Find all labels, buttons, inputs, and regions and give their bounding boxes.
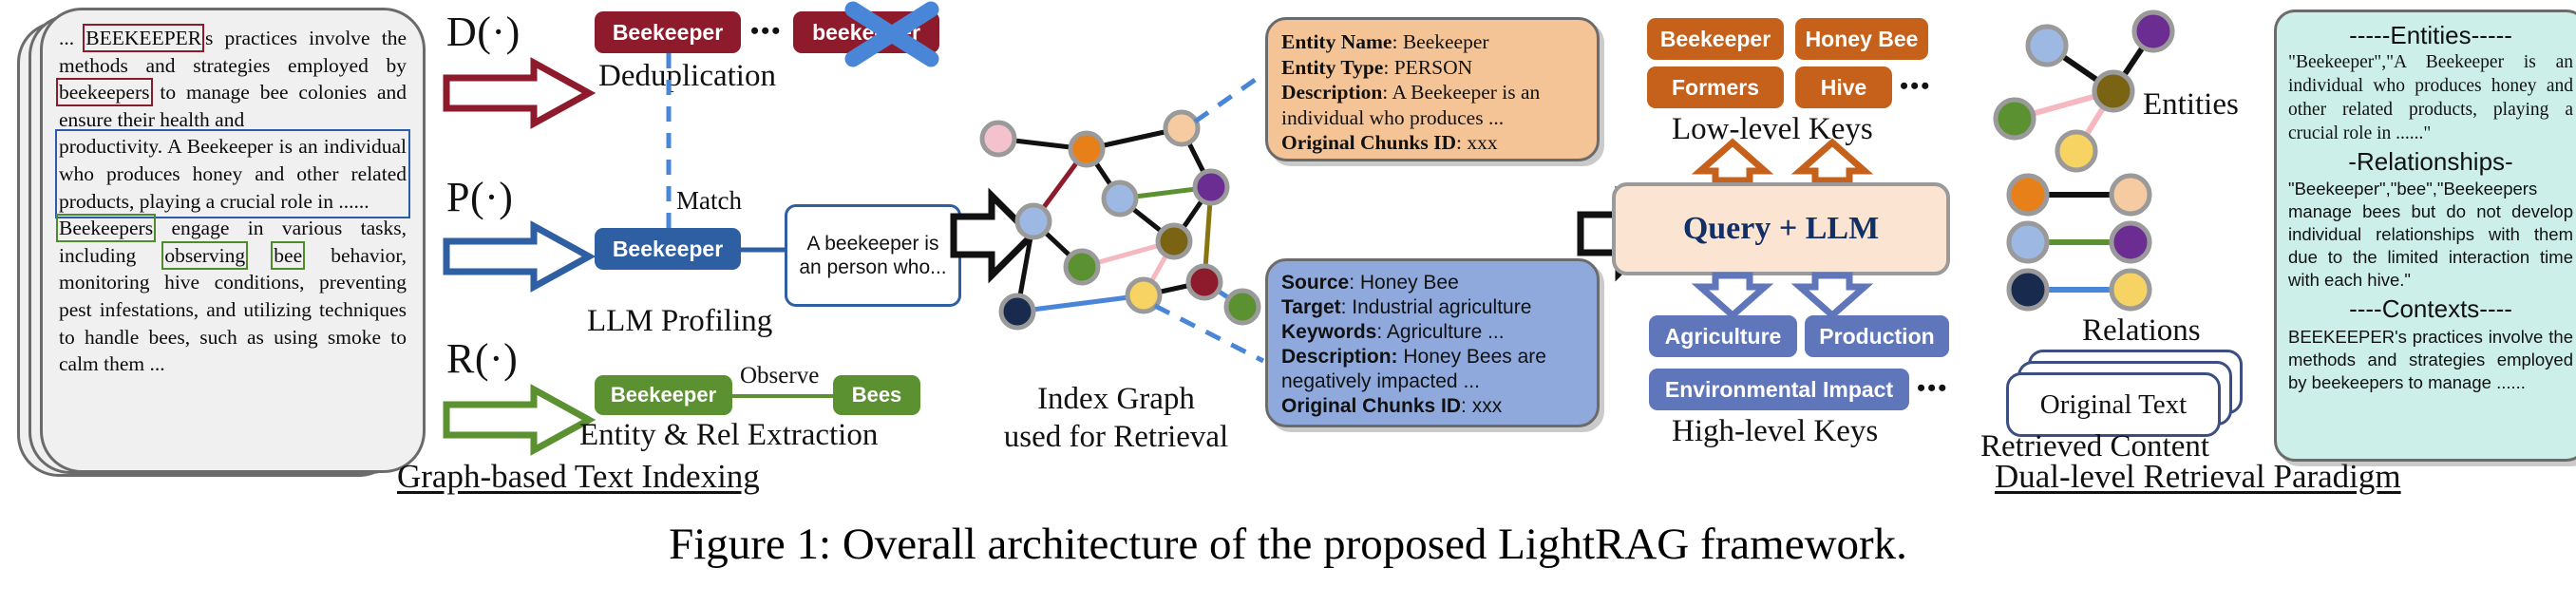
low-level-keys-ellipsis: ••• [1900,72,1931,101]
graph-node-e2 [2134,12,2172,50]
low-level-key-3[interactable]: Hive [1795,66,1892,108]
relation-pair-node-right-0 [2112,176,2150,214]
graph-node-e1 [2028,27,2066,65]
relation-source-row: Source: Honey Bee [1281,271,1583,295]
graph-node-n2 [1070,133,1103,165]
relations-label: Relations [2082,313,2201,349]
graph-node-n7 [1066,251,1098,283]
relation-keywords-value: Agriculture ... [1387,321,1505,343]
result-entities-heading: -----Entities----- [2288,20,2573,50]
graph-edge-14 [1017,295,1144,312]
figure-canvas: ... BEEKEEPER's practices involve the me… [0,0,2576,606]
entity-callout-line [1195,74,1263,122]
entity-name-row: Entity Name: Beekeeper [1281,29,1583,55]
index-graph-label-line1: Index Graph [988,382,1244,417]
high-level-key-2[interactable]: Environmental Impact [1649,369,1909,410]
relation-chunk-row: Original Chunks ID: xxx [1281,394,1583,419]
relation-keywords-label: Keywords [1281,321,1376,343]
entity-type-value: PERSON [1394,56,1472,79]
relation-target-label: Target [1281,296,1341,318]
entity-name-label: Entity Name [1281,30,1392,53]
graph-node-n5 [1104,182,1136,215]
entity-name-value: Beekeeper [1403,30,1489,53]
result-card: -----Entities----- "Beekeeper","A Beekee… [2274,9,2576,462]
entity-chunk-label: Original Chunks ID [1281,131,1456,154]
result-contexts-heading: ----Contexts---- [2288,292,2573,326]
graph-node-n8 [1158,225,1190,257]
low-level-key-1[interactable]: Honey Bee [1795,18,1928,60]
relation-target-row: Target: Industrial agriculture [1281,295,1583,320]
figure-caption: Figure 1: Overall architecture of the pr… [0,519,2576,570]
entity-type-row: Entity Type: PERSON [1281,55,1583,81]
section-title-retrieval: Dual-level Retrieval Paradigm [1995,458,2401,496]
entity-desc-label: Description [1281,81,1382,104]
low-level-up-arrow-2-icon [1800,141,1868,182]
result-relationships-heading: -Relationships- [2288,145,2573,178]
relation-chunk-label: Original Chunks ID [1281,395,1461,417]
graph-node-n3 [1165,112,1198,144]
low-level-key-2[interactable]: Formers [1647,66,1784,108]
graph-node-e3 [2094,72,2132,110]
relation-pair-node-left-2 [2009,271,2047,309]
high-level-key-1[interactable]: Production [1805,315,1949,357]
relation-desc-row: Description: Honey Bees are negatively i… [1281,345,1583,394]
graph-node-n9 [1188,266,1221,298]
query-llm-box[interactable]: Query + LLM [1612,182,1950,275]
result-entities-text: "Beekeeper","A Beekeeper is an individua… [2288,50,2573,145]
graph-node-n1 [982,123,1014,155]
high-level-keys-ellipsis: ••• [1917,374,1948,403]
relation-pair-node-right-1 [2112,223,2150,261]
relation-source-label: Source [1281,272,1349,294]
graph-node-n6 [1017,205,1050,237]
original-text-sheet-front[interactable]: Original Text [2006,372,2221,437]
high-level-keys-label: High-level Keys [1672,414,1878,449]
entity-desc-row: Description: A Beekeeper is an individua… [1281,80,1583,130]
result-contexts-text: BEEKEEPER's practices involve the method… [2288,326,2573,394]
entity-chunk-row: Original Chunks ID: xxx [1281,130,1583,156]
relation-target-value: Industrial agriculture [1352,296,1531,318]
graph-node-n12 [1226,291,1259,323]
high-level-key-0[interactable]: Agriculture [1649,315,1797,357]
relation-desc-label: Description: [1281,346,1398,368]
entities-label: Entities [2143,87,2239,123]
graph-node-n11 [1001,295,1033,328]
entity-chunk-value: xxx [1467,131,1497,154]
relation-pair-node-right-2 [2112,271,2150,309]
high-level-down-arrow-1-icon [1700,274,1769,317]
high-level-down-arrow-2-icon [1800,274,1868,317]
result-relationships-text: "Beekeeper","bee","Beekeepers manage bee… [2288,178,2573,292]
relation-keywords-row: Keywords: Agriculture ... [1281,320,1583,345]
relation-pair-node-left-1 [2009,223,2047,261]
graph-node-e4 [1996,100,2034,138]
relation-source-value: Honey Bee [1360,272,1459,294]
index-graph-label-line2: used for Retrieval [959,420,1273,455]
entity-info-card: Entity Name: Beekeeper Entity Type: PERS… [1265,17,1600,161]
relation-pair-node-left-0 [2009,176,2047,214]
low-level-up-arrow-1-icon [1700,141,1769,182]
graph-node-n4 [1195,171,1227,203]
relation-info-card: Source: Honey Bee Target: Industrial agr… [1265,258,1600,427]
entity-type-label: Entity Type [1281,56,1383,79]
low-level-key-0[interactable]: Beekeeper [1647,18,1784,60]
relation-chunk-value: xxx [1472,395,1503,417]
graph-node-e5 [2057,132,2095,170]
